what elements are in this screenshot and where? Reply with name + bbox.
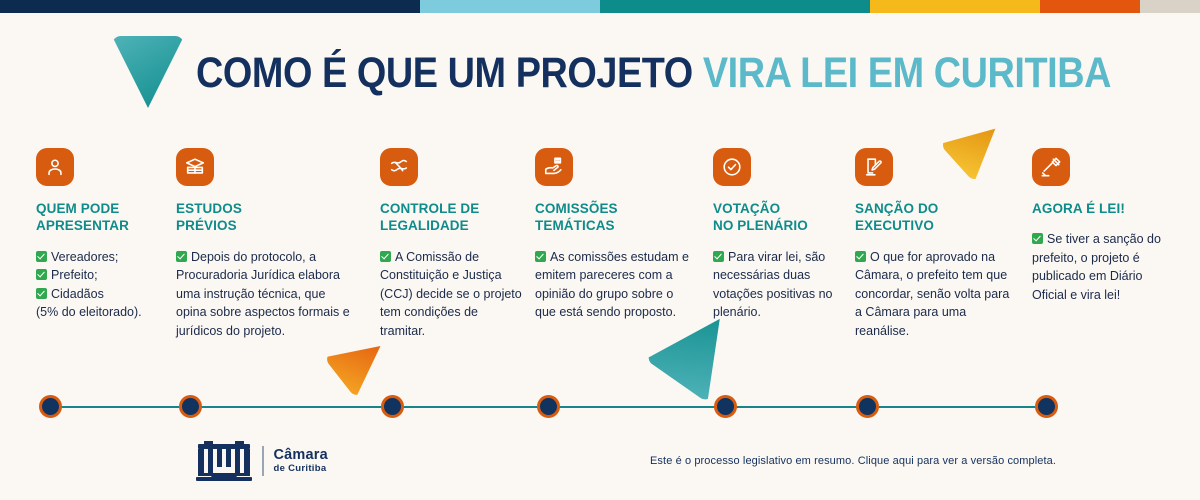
step-3-title: CONTROLE DE LEGALIDADE — [380, 200, 525, 235]
topbar-segment-gold — [870, 0, 1040, 13]
step-7: AGORA É LEI!Se tiver a sanção do prefeit… — [1032, 148, 1172, 304]
step-5: VOTAÇÃO NO PLENÁRIOPara virar lei, são n… — [713, 148, 843, 322]
timeline — [0, 395, 1200, 419]
topbar-segment-orange — [1040, 0, 1140, 13]
timeline-dot-5[interactable] — [714, 395, 737, 418]
timeline-dot-1[interactable] — [39, 395, 62, 418]
step-1-title: QUEM PODE APRESENTAR — [36, 200, 166, 235]
step-3-body: A Comissão de Constituição e Justiça (CC… — [380, 248, 525, 341]
process-steps: QUEM PODE APRESENTARVereadores;Prefeito;… — [0, 148, 1200, 348]
check-icon — [713, 251, 724, 262]
step-item: Prefeito; — [36, 266, 166, 285]
check-circle-icon — [713, 148, 751, 186]
triangle-teal-top — [112, 36, 184, 108]
page-title-part-accent: VIRA LEI EM CURITIBA — [703, 49, 1111, 97]
step-1: QUEM PODE APRESENTARVereadores;Prefeito;… — [36, 148, 166, 322]
topbar-segment-light-teal — [420, 0, 600, 13]
triangle-teal-top-shape — [112, 36, 184, 108]
step-3: CONTROLE DE LEGALIDADEA Comissão de Cons… — [380, 148, 525, 340]
check-icon — [36, 269, 47, 280]
logo-line-2: de Curitiba — [274, 464, 328, 474]
step-item: Vereadores; — [36, 248, 166, 267]
step-5-title: VOTAÇÃO NO PLENÁRIO — [713, 200, 843, 235]
step-6: SANÇÃO DO EXECUTIVOO que for aprovado na… — [855, 148, 1015, 340]
timeline-dot-3[interactable] — [381, 395, 404, 418]
step-4: COMISSÕES TEMÁTICASAs comissões estudam … — [535, 148, 695, 322]
footer-note[interactable]: Este é o processo legislativo em resumo.… — [650, 455, 1056, 467]
top-color-bar — [0, 0, 1200, 13]
page-title: COMO É QUE UM PROJETO VIRA LEI EM CURITI… — [196, 52, 1111, 95]
page-title-part-primary: COMO É QUE UM PROJETO — [196, 49, 693, 97]
check-icon — [380, 251, 391, 262]
topbar-segment-beige — [1140, 0, 1200, 13]
step-item: Para virar lei, são necessárias duas vot… — [713, 248, 843, 322]
step-2: ESTUDOS PRÉVIOSDepois do protocolo, a Pr… — [176, 148, 351, 340]
check-icon — [535, 251, 546, 262]
topbar-segment-teal — [600, 0, 870, 13]
step-item: As comissões estudam e emitem pareceres … — [535, 248, 695, 322]
step-7-body: Se tiver a sanção do prefeito, o projeto… — [1032, 230, 1172, 304]
check-icon — [36, 288, 47, 299]
check-icon — [36, 251, 47, 262]
camara-logo[interactable]: Câmara de Curitiba — [196, 440, 328, 482]
check-icon — [1032, 233, 1043, 244]
step-item: Depois do protocolo, a Procuradoria Jurí… — [176, 248, 351, 341]
step-1-body: Vereadores;Prefeito;Cidadãos(5% do eleit… — [36, 248, 166, 322]
timeline-dot-7[interactable] — [1035, 395, 1058, 418]
topbar-segment-navy — [0, 0, 420, 13]
graduation-books-icon — [176, 148, 214, 186]
step-7-title: AGORA É LEI! — [1032, 200, 1172, 217]
person-icon — [36, 148, 74, 186]
logo-divider — [262, 446, 264, 476]
gavel-icon — [1032, 148, 1070, 186]
step-2-body: Depois do protocolo, a Procuradoria Jurí… — [176, 248, 351, 341]
logo-wordmark: Câmara de Curitiba — [274, 448, 328, 474]
step-4-body: As comissões estudam e emitem pareceres … — [535, 248, 695, 322]
step-item: A Comissão de Constituição e Justiça (CC… — [380, 248, 525, 341]
step-6-title: SANÇÃO DO EXECUTIVO — [855, 200, 1015, 235]
hand-document-icon — [535, 148, 573, 186]
step-5-body: Para virar lei, são necessárias duas vot… — [713, 248, 843, 322]
timeline-dot-6[interactable] — [856, 395, 879, 418]
step-item-extra: (5% do eleitorado). — [36, 303, 166, 322]
legal-scales-icon — [380, 148, 418, 186]
check-icon — [176, 251, 187, 262]
step-6-body: O que for aprovado na Câmara, o prefeito… — [855, 248, 1015, 341]
timeline-dot-2[interactable] — [179, 395, 202, 418]
step-item: O que for aprovado na Câmara, o prefeito… — [855, 248, 1015, 341]
logo-line-1: Câmara — [274, 448, 328, 464]
check-icon — [855, 251, 866, 262]
step-2-title: ESTUDOS PRÉVIOS — [176, 200, 351, 235]
step-4-title: COMISSÕES TEMÁTICAS — [535, 200, 695, 235]
step-item: Se tiver a sanção do prefeito, o projeto… — [1032, 230, 1172, 304]
signature-document-icon — [855, 148, 893, 186]
camara-building-icon — [196, 440, 252, 482]
step-item: Cidadãos — [36, 285, 166, 304]
timeline-dot-4[interactable] — [537, 395, 560, 418]
